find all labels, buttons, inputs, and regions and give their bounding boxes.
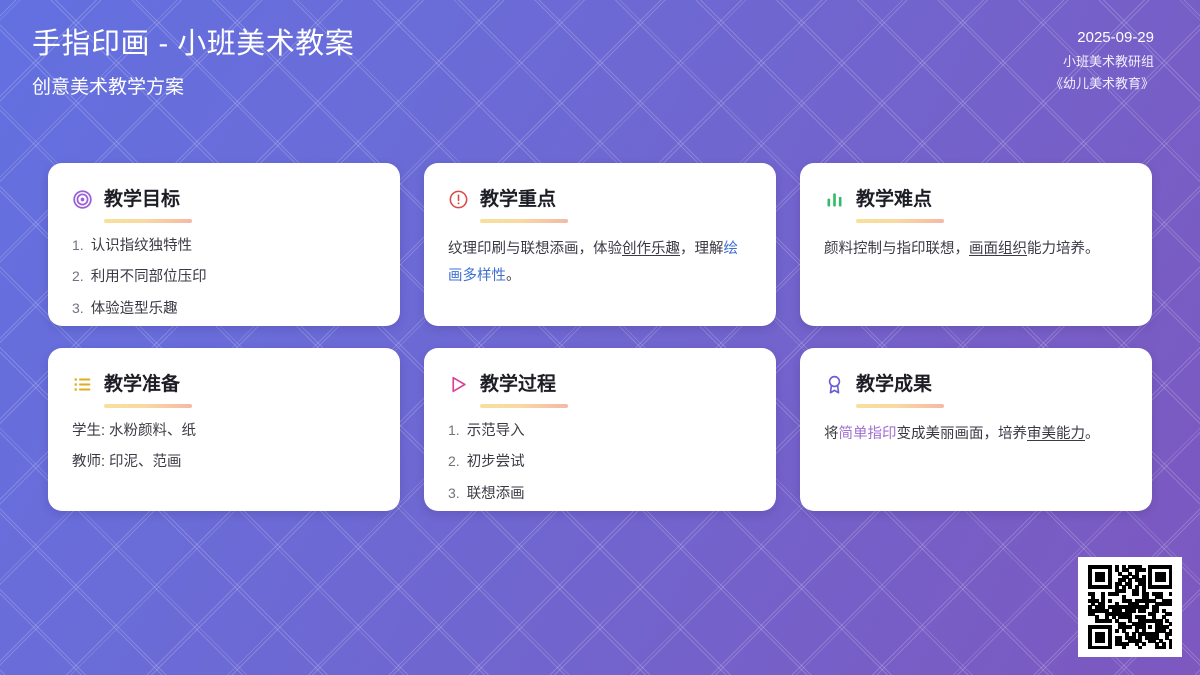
play-triangle-icon [448, 374, 469, 395]
card-teaching-objectives: 教学目标1.认识指纹独特性2.利用不同部位压印3.体验造型乐趣 [48, 163, 400, 326]
card-title: 教学重点 [480, 190, 556, 209]
list-item-label: 示范导入 [467, 421, 525, 441]
card-body: 学生: 水粉颜料、纸教师: 印泥、范画 [72, 421, 376, 473]
list-item: 2.利用不同部位压印 [72, 267, 376, 287]
card-title: 教学目标 [104, 190, 180, 209]
card-paragraph: 颜料控制与指印联想，画面组织能力培养。 [824, 236, 1128, 263]
slide-header: 手指印画 - 小班美术教案 创意美术教学方案 2025-09-29 小班美术教研… [0, 0, 1200, 132]
text-segment-plain: ，理解 [680, 241, 724, 257]
card-teaching-process: 教学过程1.示范导入2.初步尝试3.联想添画 [424, 348, 776, 511]
text-segment-plain: 。 [1085, 426, 1100, 442]
text-segment-purple: 简单指印 [839, 426, 897, 442]
numbered-list: 1.示范导入2.初步尝试3.联想添画 [448, 421, 752, 504]
card-title: 教学成果 [856, 375, 932, 394]
meta-source: 《幼儿美术教育》 [1050, 76, 1154, 92]
card-body: 将简单指印变成美丽画面，培养审美能力。 [824, 421, 1128, 448]
title-underline [480, 404, 568, 408]
card-body: 1.认识指纹独特性2.利用不同部位压印3.体验造型乐趣 [72, 236, 376, 319]
card-header: 教学难点 [824, 185, 1128, 213]
header-left: 手指印画 - 小班美术教案 创意美术教学方案 [32, 26, 354, 101]
title-underline [856, 219, 944, 223]
alert-circle-icon [448, 189, 469, 210]
list-item: 1.示范导入 [448, 421, 752, 441]
text-segment-plain: 变成美丽画面，培养 [897, 426, 1028, 442]
card-teaching-outcomes: 教学成果将简单指印变成美丽画面，培养审美能力。 [800, 348, 1152, 511]
card-teaching-key-points: 教学重点纹理印刷与联想添画，体验创作乐趣，理解绘画多样性。 [424, 163, 776, 326]
list-item-index: 3. [448, 484, 460, 504]
key-value-list: 学生: 水粉颜料、纸教师: 印泥、范画 [72, 421, 376, 473]
text-segment-plain: 。 [506, 268, 521, 284]
card-header: 教学过程 [448, 370, 752, 398]
bar-chart-icon [824, 189, 845, 210]
card-teaching-preparation: 教学准备学生: 水粉颜料、纸教师: 印泥、范画 [48, 348, 400, 511]
target-icon [72, 189, 93, 210]
text-segment-underline: 审美能力 [1027, 426, 1085, 442]
list-item: 3.联想添画 [448, 484, 752, 504]
card-paragraph: 将简单指印变成美丽画面，培养审美能力。 [824, 421, 1128, 448]
list-item: 3.体验造型乐趣 [72, 299, 376, 319]
card-header: 教学成果 [824, 370, 1128, 398]
list-item-label: 体验造型乐趣 [91, 299, 178, 319]
list-item-index: 1. [448, 421, 460, 441]
list-item: 学生: 水粉颜料、纸 [72, 421, 376, 441]
list-icon [72, 374, 93, 395]
list-item-index: 2. [448, 452, 460, 472]
card-teaching-difficulties: 教学难点颜料控制与指印联想，画面组织能力培养。 [800, 163, 1152, 326]
page-subtitle: 创意美术教学方案 [32, 76, 354, 101]
card-paragraph: 纹理印刷与联想添画，体验创作乐趣，理解绘画多样性。 [448, 236, 752, 290]
card-header: 教学准备 [72, 370, 376, 398]
card-body: 颜料控制与指印联想，画面组织能力培养。 [824, 236, 1128, 263]
meta-group: 小班美术教研组 [1063, 54, 1154, 70]
page-title: 手指印画 - 小班美术教案 [32, 26, 354, 62]
card-header: 教学目标 [72, 185, 376, 213]
award-icon [824, 374, 845, 395]
list-item-label: 认识指纹独特性 [91, 236, 193, 256]
list-item-index: 1. [72, 236, 84, 256]
slide-canvas: 手指印画 - 小班美术教案 创意美术教学方案 2025-09-29 小班美术教研… [0, 0, 1200, 675]
text-segment-plain: 将 [824, 426, 839, 442]
card-grid: 教学目标1.认识指纹独特性2.利用不同部位压印3.体验造型乐趣教学重点纹理印刷与… [48, 163, 1152, 511]
card-body: 纹理印刷与联想添画，体验创作乐趣，理解绘画多样性。 [448, 236, 752, 290]
title-underline [104, 219, 192, 223]
title-underline [480, 219, 568, 223]
card-title: 教学难点 [856, 190, 932, 209]
text-segment-plain: 能力培养。 [1027, 241, 1100, 257]
list-item: 1.认识指纹独特性 [72, 236, 376, 256]
numbered-list: 1.认识指纹独特性2.利用不同部位压印3.体验造型乐趣 [72, 236, 376, 319]
list-item-label: 联想添画 [467, 484, 525, 504]
text-segment-plain: 颜料控制与指印联想， [824, 241, 969, 257]
text-segment-plain: 纹理印刷与联想添画，体验 [448, 241, 622, 257]
list-item-index: 2. [72, 267, 84, 287]
text-segment-underline: 画面组织 [969, 241, 1027, 257]
title-underline [104, 404, 192, 408]
title-underline [856, 404, 944, 408]
list-item: 2.初步尝试 [448, 452, 752, 472]
card-body: 1.示范导入2.初步尝试3.联想添画 [448, 421, 752, 504]
qr-code [1088, 565, 1172, 649]
list-item-label: 利用不同部位压印 [91, 267, 207, 287]
card-title: 教学准备 [104, 375, 180, 394]
list-item: 教师: 印泥、范画 [72, 452, 376, 472]
header-meta: 2025-09-29 小班美术教研组 《幼儿美术教育》 [1050, 26, 1154, 92]
card-title: 教学过程 [480, 375, 556, 394]
text-segment-underline: 创作乐趣 [622, 241, 680, 257]
card-header: 教学重点 [448, 185, 752, 213]
meta-date: 2025-09-29 [1077, 29, 1154, 48]
list-item-index: 3. [72, 299, 84, 319]
list-item-label: 初步尝试 [467, 452, 525, 472]
qr-code-container[interactable] [1078, 557, 1182, 657]
